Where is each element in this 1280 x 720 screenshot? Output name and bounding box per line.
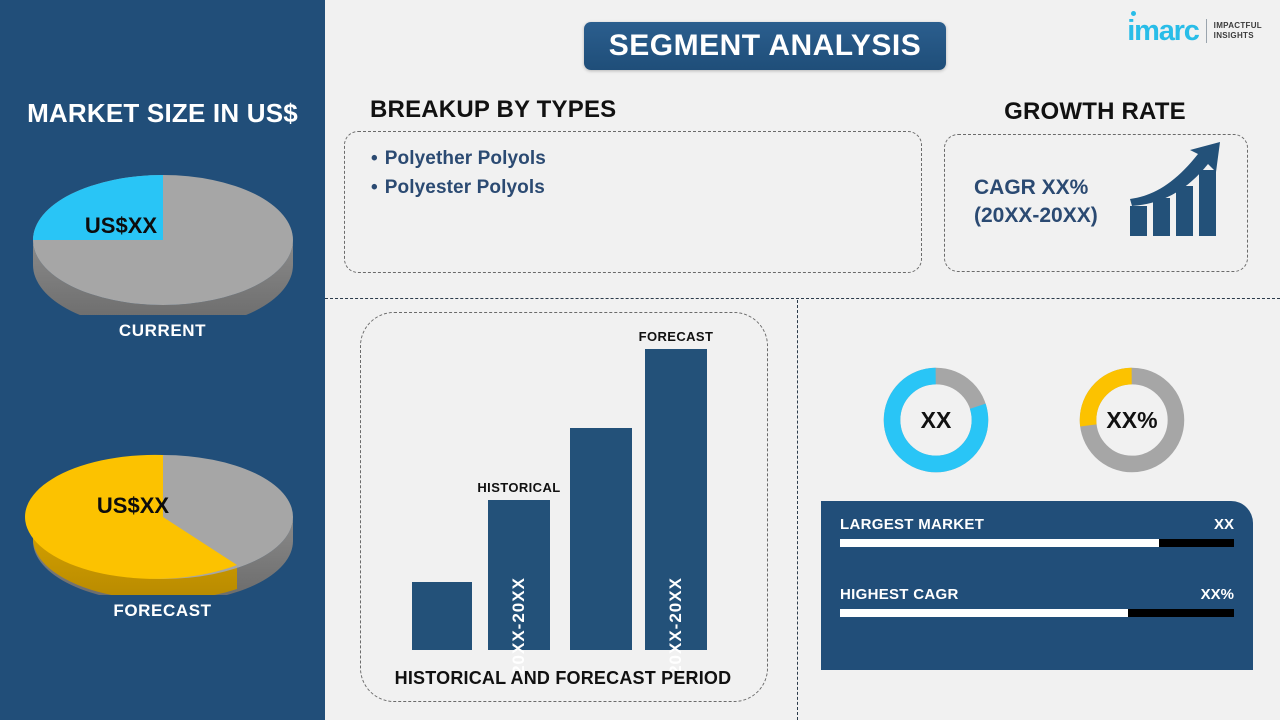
current-pie-chart: US$XX CURRENT (0, 155, 325, 341)
imarc-tagline: IMPACTFUL INSIGHTS (1214, 21, 1262, 41)
imarc-tagline-line1: IMPACTFUL (1214, 21, 1262, 31)
chart-bar-label: 20XX-20XX (666, 577, 686, 675)
forecast-annotation: FORECAST (639, 329, 714, 344)
market-size-sidebar: MARKET SIZE IN US$ US$XX CURRENT (0, 0, 325, 720)
current-pie-caption: CURRENT (0, 321, 325, 341)
historical-annotation: HISTORICAL (477, 480, 560, 495)
highest-cagr-progress-fill (840, 609, 1128, 617)
infographic-canvas: MARKET SIZE IN US$ US$XX CURRENT (0, 0, 1280, 720)
page-title: SEGMENT ANALYSIS (609, 29, 922, 63)
sidebar-title: MARKET SIZE IN US$ (0, 98, 325, 129)
chart-axis-caption: HISTORICAL AND FORECAST PERIOD (360, 668, 766, 689)
imarc-logo-dot (1131, 11, 1136, 16)
types-list: Polyether Polyols Polyester Polyols (345, 132, 921, 202)
highest-cagr-label: HIGHEST CAGR (840, 586, 959, 603)
forecast-pie-chart: US$XX FORECAST (0, 435, 325, 621)
forecast-pie-slice-label: US$XX (96, 493, 168, 518)
cagr-period: (20XX-20XX) (974, 202, 1134, 230)
chart-bar (570, 428, 632, 650)
highest-cagr-donut-label: XX% (1074, 362, 1190, 478)
growth-arrow-bars-icon (1128, 142, 1224, 245)
largest-market-progress-fill (840, 539, 1159, 547)
highest-cagr-donut: XX% (1074, 362, 1190, 478)
imarc-wordmark: imarc (1127, 17, 1198, 46)
largest-market-donut: XX (878, 362, 994, 478)
chart-bar (412, 582, 472, 650)
vertical-divider (797, 300, 798, 720)
current-pie-slice-label: US$XX (84, 213, 156, 238)
imarc-logo: imarc IMPACTFUL INSIGHTS (1127, 14, 1262, 48)
largest-market-label: LARGEST MARKET (840, 516, 984, 533)
historical-forecast-bar-chart: HISTORICAL 20XX-20XX FORECAST 20XX-20XX (360, 312, 766, 700)
current-pie-svg: US$XX (23, 155, 303, 315)
imarc-logo-text: imarc (1127, 15, 1198, 47)
largest-market-progress-track (840, 539, 1234, 547)
breakup-by-types-box: Polyether Polyols Polyester Polyols (344, 131, 922, 273)
highest-cagr-progress-track (840, 609, 1234, 617)
largest-market-value: XX (1214, 516, 1234, 533)
growth-rate-title: GROWTH RATE (944, 98, 1246, 126)
highest-cagr-value: XX% (1201, 586, 1234, 603)
list-item: Polyester Polyols (371, 173, 921, 202)
market-stats-panel: LARGEST MARKET XX HIGHEST CAGR XX% (821, 501, 1253, 670)
chart-bar-label: 20XX-20XX (509, 577, 529, 675)
cagr-text: CAGR XX% (20XX-20XX) (974, 174, 1134, 230)
forecast-pie-svg: US$XX (23, 435, 303, 595)
cagr-value: CAGR XX% (974, 174, 1134, 202)
chart-bar: HISTORICAL 20XX-20XX (488, 500, 550, 650)
chart-bar: FORECAST 20XX-20XX (645, 349, 707, 650)
imarc-tagline-line2: INSIGHTS (1214, 31, 1262, 41)
forecast-pie-caption: FORECAST (0, 601, 325, 621)
logo-divider (1206, 19, 1207, 43)
largest-market-donut-label: XX (878, 362, 994, 478)
horizontal-divider (325, 298, 1280, 299)
list-item: Polyether Polyols (371, 144, 921, 173)
breakup-by-types-title: BREAKUP BY TYPES (370, 96, 616, 124)
page-title-badge: SEGMENT ANALYSIS (584, 22, 946, 70)
